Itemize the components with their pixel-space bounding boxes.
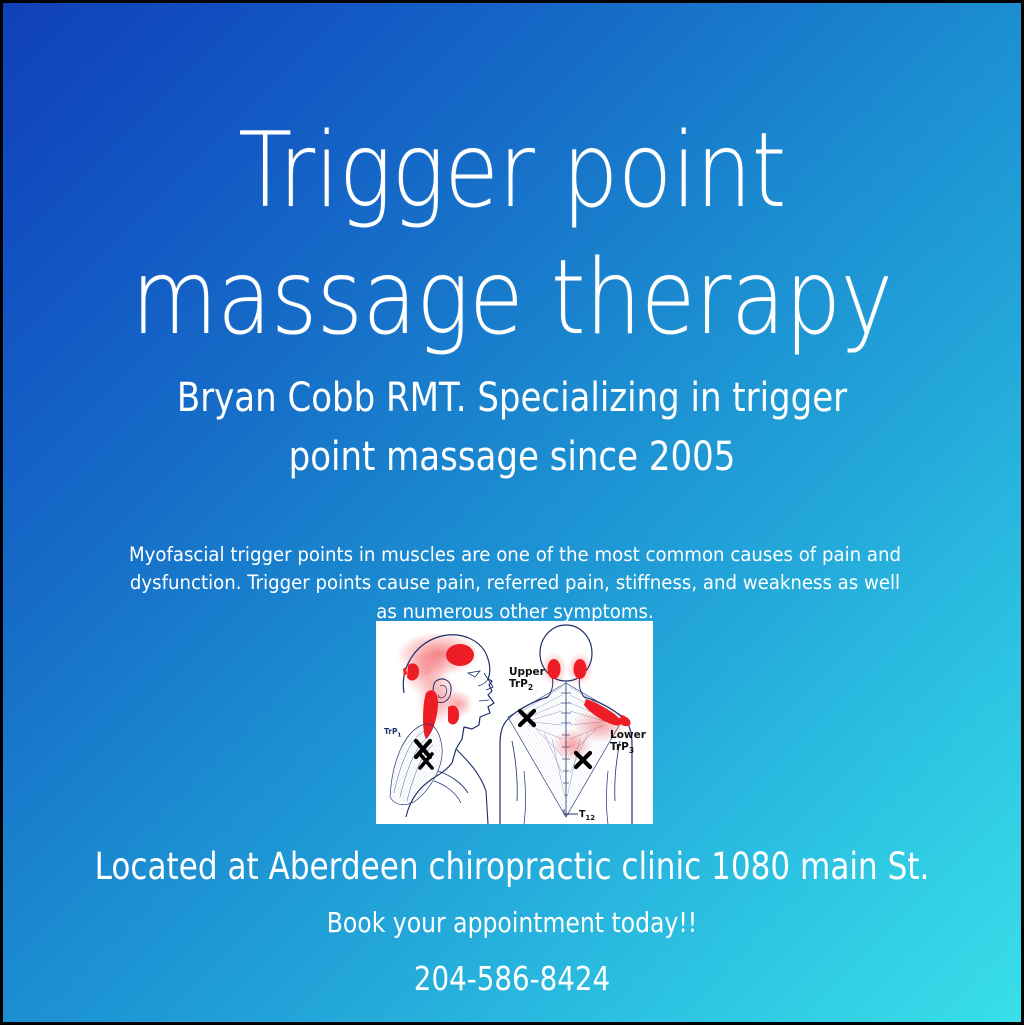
poster-canvas: Trigger point massage therapy Bryan Cobb…	[0, 0, 1024, 1025]
page-title: Trigger point massage therapy	[74, 108, 949, 361]
label-lower: Lower	[610, 729, 647, 741]
trigger-point-diagram-image: TrP1	[376, 621, 653, 824]
trapezius-trigger-point-illustration: TrP1	[376, 621, 653, 824]
subtitle-line-2: point massage since 2005	[79, 428, 944, 486]
footer-contact-block: Located at Aberdeen chiropractic clinic …	[3, 843, 1021, 1001]
booking-callout: Book your appointment today!!	[84, 905, 939, 941]
phone-number[interactable]: 204-586-8424	[84, 958, 939, 1001]
label-upper: Upper	[509, 666, 546, 678]
title-line-1: Trigger point	[74, 108, 949, 235]
title-line-2: massage therapy	[74, 235, 949, 362]
clinic-address: Located at Aberdeen chiropractic clinic …	[84, 843, 939, 890]
subtitle: Bryan Cobb RMT. Specializing in trigger …	[79, 369, 944, 486]
body-paragraph: Myofascial trigger points in muscles are…	[121, 541, 910, 627]
referred-pain-patch	[446, 644, 474, 666]
subtitle-line-1: Bryan Cobb RMT. Specializing in trigger	[79, 369, 944, 427]
poster-content: Trigger point massage therapy Bryan Cobb…	[3, 3, 1021, 1022]
